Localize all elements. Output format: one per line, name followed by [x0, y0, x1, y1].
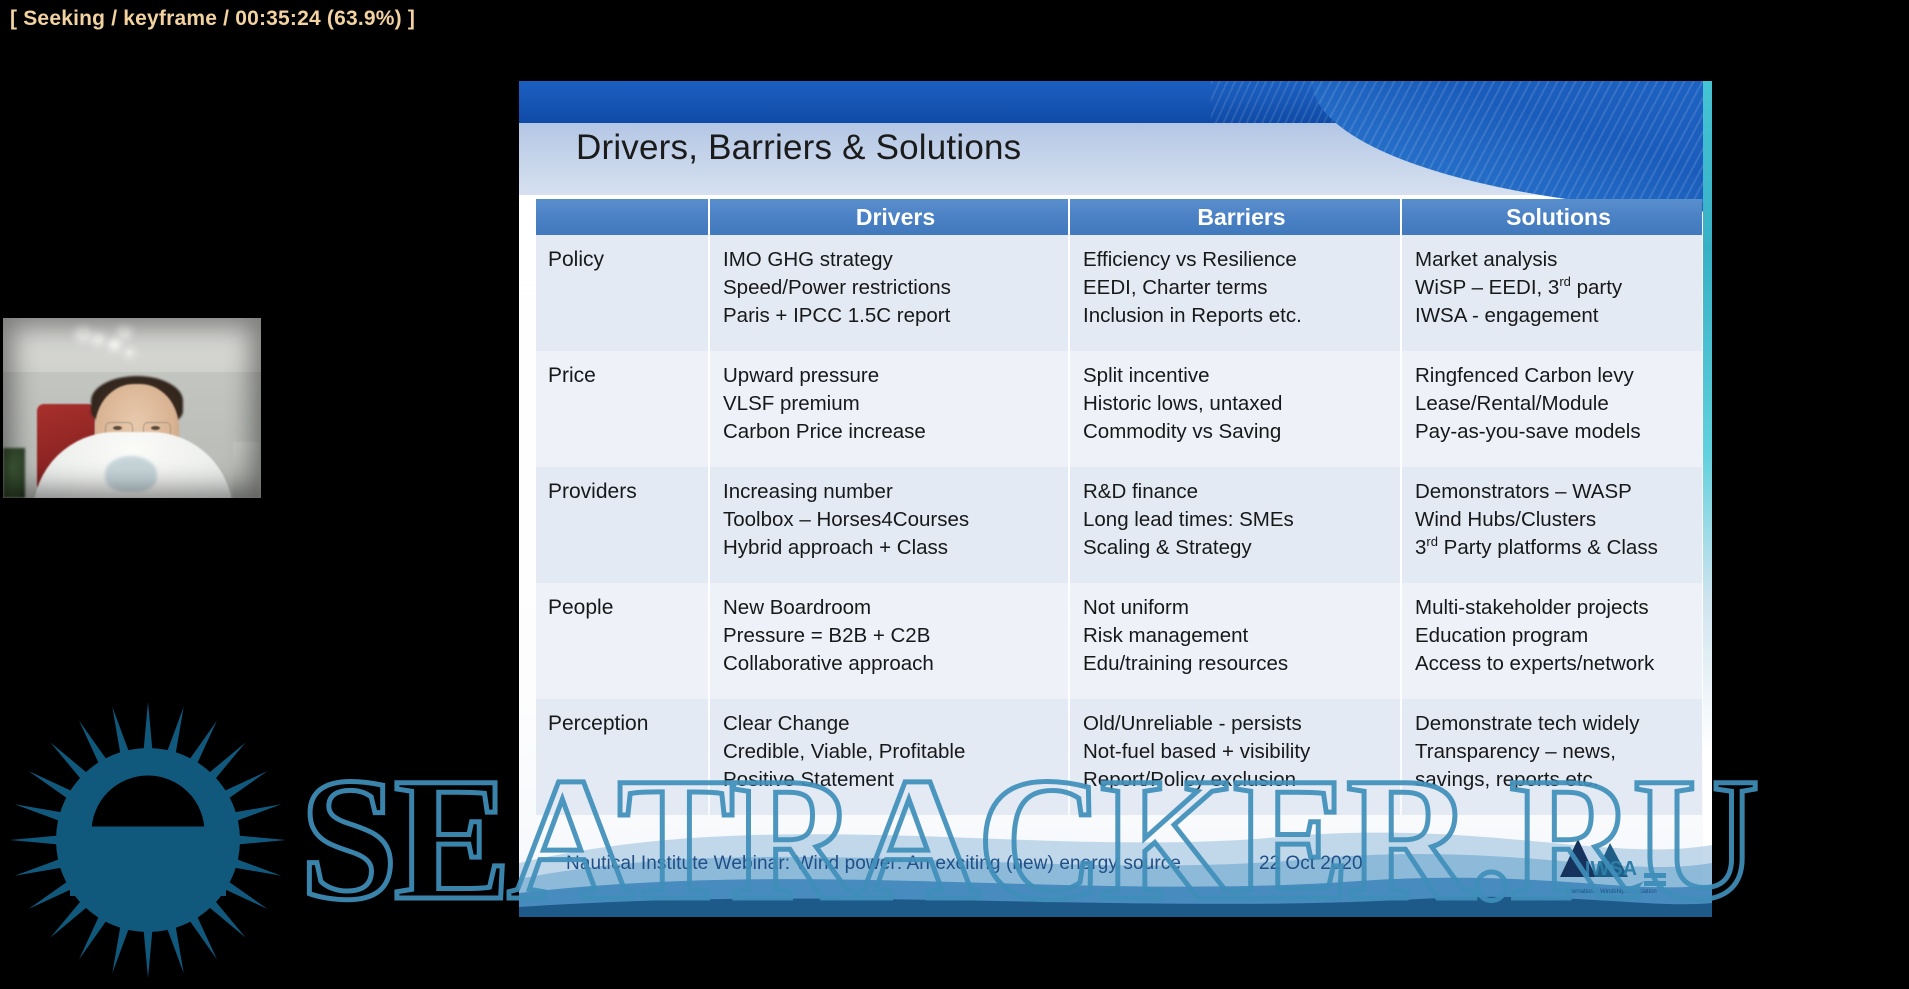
cell-line: Speed/Power restrictions [723, 274, 1058, 302]
cell-line: Clear Change [723, 710, 1058, 738]
osd-seek-status: [ Seeking / keyframe / 00:35:24 (63.9%) … [10, 7, 415, 31]
sunburst-icon [8, 700, 288, 980]
column-header-drivers: Drivers [710, 199, 1068, 235]
cell-line: EEDI, Charter terms [1083, 274, 1390, 302]
cell-price-solutions: Ringfenced Carbon levyLease/Rental/Modul… [1402, 351, 1702, 467]
column-header-blank [536, 199, 708, 235]
table-header: Drivers Barriers Solutions [536, 199, 1702, 235]
cell-price-drivers: Upward pressureVLSF premiumCarbon Price … [710, 351, 1068, 467]
cell-perception-drivers: Clear ChangeCredible, Viable, Profitable… [710, 699, 1068, 815]
cell-line: Old/Unreliable - persists [1083, 710, 1390, 738]
cell-line: Access to experts/network [1415, 650, 1692, 678]
slide-title: Drivers, Barriers & Solutions [576, 128, 1021, 168]
slide-corner-swoosh [1312, 81, 1712, 213]
cell-line: Commodity vs Saving [1083, 418, 1390, 446]
cell-line: savings, reports etc. [1415, 766, 1692, 794]
cell-line: New Boardroom [723, 594, 1058, 622]
cell-line: WiSP – EEDI, 3rd party [1415, 274, 1692, 302]
cell-line: Market analysis [1415, 246, 1692, 274]
table-row: PeopleNew BoardroomPressure = B2B + C2BC… [536, 583, 1702, 699]
cell-line: 3rd Party platforms & Class [1415, 534, 1692, 562]
cell-line: Credible, Viable, Profitable [723, 738, 1058, 766]
cell-line: Hybrid approach + Class [723, 534, 1058, 562]
video-player[interactable]: [ Seeking / keyframe / 00:35:24 (63.9%) … [0, 0, 1909, 989]
cell-policy-barriers: Efficiency vs ResilienceEEDI, Charter te… [1070, 235, 1400, 351]
iwsa-tagline: International Windship Association [1565, 889, 1656, 895]
iwsa-logo: IWSA International Windship Association [1548, 831, 1674, 903]
table-row: PriceUpward pressureVLSF premiumCarbon P… [536, 351, 1702, 467]
cell-providers-solutions: Demonstrators – WASPWind Hubs/Clusters3r… [1402, 467, 1702, 583]
column-header-solutions: Solutions [1402, 199, 1702, 235]
cell-line: Multi-stakeholder projects [1415, 594, 1692, 622]
drivers-barriers-solutions-table: Drivers Barriers Solutions PolicyIMO GHG… [534, 199, 1704, 815]
cell-perception-barriers: Old/Unreliable - persistsNot-fuel based … [1070, 699, 1400, 815]
cell-line: VLSF premium [723, 390, 1058, 418]
cell-people-drivers: New BoardroomPressure = B2B + C2BCollabo… [710, 583, 1068, 699]
iwsa-mark-1 [1644, 873, 1666, 878]
cell-line: Toolbox – Horses4Courses [723, 506, 1058, 534]
cell-line: Split incentive [1083, 362, 1390, 390]
iwsa-mark-2 [1644, 881, 1666, 886]
row-label-perception: Perception [536, 699, 708, 815]
cell-line: Demonstrate tech widely [1415, 710, 1692, 738]
cell-line: Paris + IPCC 1.5C report [723, 302, 1058, 330]
cell-line: Increasing number [723, 478, 1058, 506]
cell-line: Pressure = B2B + C2B [723, 622, 1058, 650]
cell-line: R&D finance [1083, 478, 1390, 506]
cell-line: Edu/training resources [1083, 650, 1390, 678]
cell-providers-drivers: Increasing numberToolbox – Horses4Course… [710, 467, 1068, 583]
table-row: PerceptionClear ChangeCredible, Viable, … [536, 699, 1702, 815]
table-body: PolicyIMO GHG strategySpeed/Power restri… [536, 235, 1702, 815]
cell-line: Collaborative approach [723, 650, 1058, 678]
cell-line: Wind Hubs/Clusters [1415, 506, 1692, 534]
cell-people-solutions: Multi-stakeholder projectsEducation prog… [1402, 583, 1702, 699]
table-header-row: Drivers Barriers Solutions [536, 199, 1702, 235]
cell-providers-barriers: R&D financeLong lead times: SMEsScaling … [1070, 467, 1400, 583]
cell-line: Transparency – news, [1415, 738, 1692, 766]
cell-perception-solutions: Demonstrate tech widelyTransparency – ne… [1402, 699, 1702, 815]
cell-line: IWSA - engagement [1415, 302, 1692, 330]
cell-line: Inclusion in Reports etc. [1083, 302, 1390, 330]
cell-line: IMO GHG strategy [723, 246, 1058, 274]
presentation-slide[interactable]: Drivers, Barriers & Solutions Drivers Ba… [519, 81, 1712, 917]
iwsa-wordmark: IWSA [1585, 858, 1637, 880]
slide-footer-text: Nautical Institute Webinar: Wind power: … [566, 853, 1181, 875]
column-header-barriers: Barriers [1070, 199, 1400, 235]
cell-policy-drivers: IMO GHG strategySpeed/Power restrictions… [710, 235, 1068, 351]
slide-footer-date: 22 Oct 2020 [1259, 853, 1363, 875]
cell-line: Historic lows, untaxed [1083, 390, 1390, 418]
cell-line: Demonstrators – WASP [1415, 478, 1692, 506]
cell-line: Risk management [1083, 622, 1390, 650]
row-label-people: People [536, 583, 708, 699]
cell-line: Not uniform [1083, 594, 1390, 622]
cell-line: Efficiency vs Resilience [1083, 246, 1390, 274]
cell-line: Carbon Price increase [723, 418, 1058, 446]
sunburst-base [70, 834, 226, 896]
cell-line: Ringfenced Carbon levy [1415, 362, 1692, 390]
cell-line: Upward pressure [723, 362, 1058, 390]
row-label-price: Price [536, 351, 708, 467]
table-row: PolicyIMO GHG strategySpeed/Power restri… [536, 235, 1702, 351]
presenter-webcam[interactable] [3, 318, 261, 498]
cell-policy-solutions: Market analysisWiSP – EEDI, 3rd partyIWS… [1402, 235, 1702, 351]
row-label-policy: Policy [536, 235, 708, 351]
cell-line: Long lead times: SMEs [1083, 506, 1390, 534]
cell-line: Education program [1415, 622, 1692, 650]
cell-line: Pay-as-you-save models [1415, 418, 1692, 446]
cell-line: Positive Statement [723, 766, 1058, 794]
row-label-providers: Providers [536, 467, 708, 583]
cell-line: Lease/Rental/Module [1415, 390, 1692, 418]
table-row: ProvidersIncreasing numberToolbox – Hors… [536, 467, 1702, 583]
cell-people-barriers: Not uniformRisk managementEdu/training r… [1070, 583, 1400, 699]
cell-line: Report/Policy exclusion [1083, 766, 1390, 794]
cell-line: Not-fuel based + visibility [1083, 738, 1390, 766]
cell-price-barriers: Split incentiveHistoric lows, untaxedCom… [1070, 351, 1400, 467]
webcam-vignette [3, 318, 261, 498]
cell-line: Scaling & Strategy [1083, 534, 1390, 562]
